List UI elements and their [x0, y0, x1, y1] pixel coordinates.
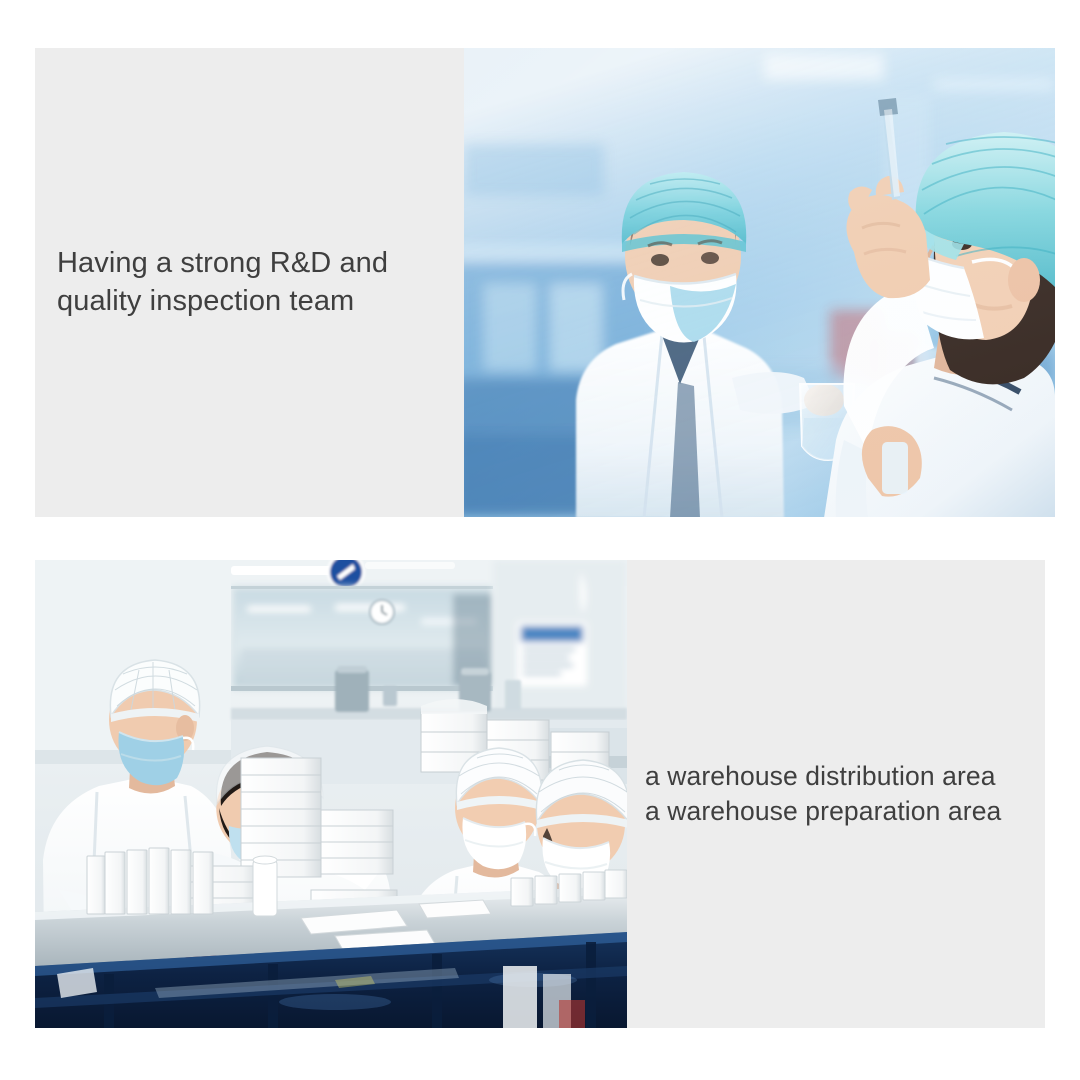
warehouse-text-panel: a warehouse distribution area a warehous…: [627, 560, 1045, 1028]
rnd-caption: Having a strong R&D and quality inspecti…: [35, 245, 398, 320]
warehouse-packing-photo: [35, 560, 627, 1028]
lab-quality-inspection-photo: [464, 48, 1055, 517]
warehouse-caption: a warehouse distribution area a warehous…: [627, 759, 1007, 829]
page-root: Having a strong R&D and quality inspecti…: [0, 0, 1080, 1080]
rnd-text-panel: Having a strong R&D and quality inspecti…: [35, 48, 464, 517]
